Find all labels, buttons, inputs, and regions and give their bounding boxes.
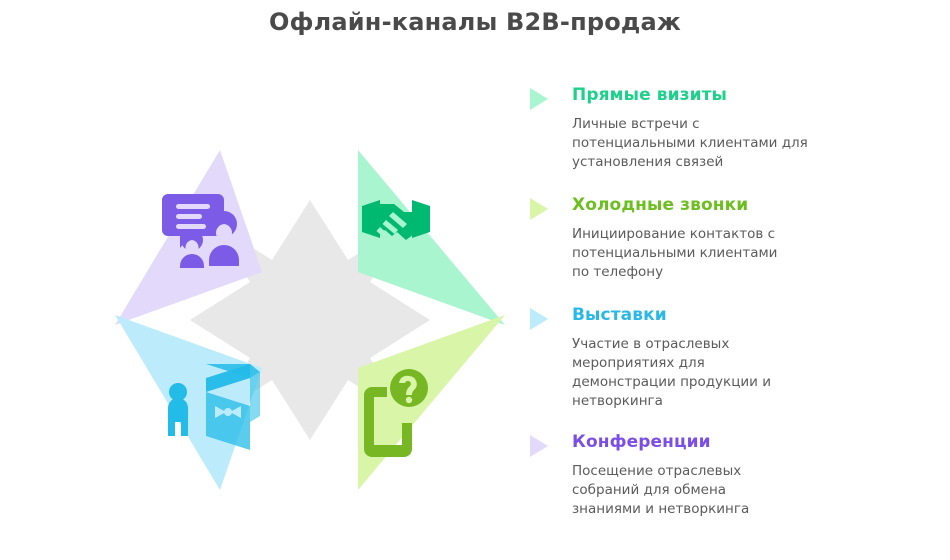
play-triangle-icon (530, 88, 548, 110)
channel-list: Прямые визиты Личные встречи с потенциал… (528, 84, 928, 519)
channel-item-cold-calls[interactable]: Холодные звонки Инициирование контактов … (528, 194, 928, 282)
channel-description: Личные встречи с потенциальными клиентам… (572, 115, 872, 172)
channel-item-exhibitions[interactable]: Выставки Участие в отраслевых мероприяти… (528, 304, 928, 411)
channel-heading: Прямые визиты (572, 84, 928, 106)
channel-item-conferences[interactable]: Конференции Посещение отраслевых собрани… (528, 431, 928, 519)
channel-description: Посещение отраслевых собраний для обмена… (572, 462, 872, 519)
channel-item-direct-visits[interactable]: Прямые визиты Личные встречи с потенциал… (528, 84, 928, 172)
page-title: Офлайн-каналы B2B-продаж (0, 8, 950, 36)
play-triangle-icon (530, 435, 548, 457)
channel-heading: Конференции (572, 431, 928, 453)
play-triangle-icon (530, 308, 548, 330)
channel-heading: Выставки (572, 304, 928, 326)
channels-diagram (110, 120, 510, 520)
channel-description: Инициирование контактов с потенциальными… (572, 225, 872, 282)
play-triangle-icon (530, 198, 548, 220)
channel-heading: Холодные звонки (572, 194, 928, 216)
channel-description: Участие в отраслевых мероприятиях для де… (572, 335, 872, 411)
